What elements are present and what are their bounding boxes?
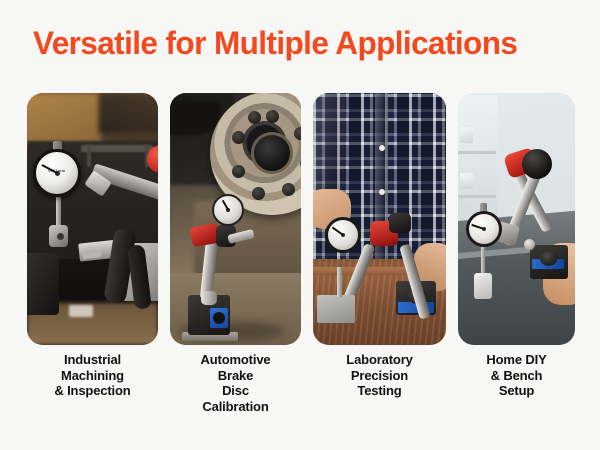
hub-bolt-hole [232,165,245,178]
photo-home-diy-bench-setup [458,93,575,345]
floor-part [69,305,93,317]
shelf-jar [460,127,473,143]
hub-bolt-hole [232,131,245,144]
black-knob-icon [389,213,411,233]
photo-industrial-machining: 0.01mm [27,93,158,345]
background-wall [27,93,101,145]
dial-indicator-gauge: 0.01mm [33,149,81,197]
magnetic-switch-knob [540,251,557,266]
gauge-center-pivot [226,208,230,212]
black-knob-icon [522,149,552,179]
hub-bolt-hole [266,110,279,123]
hub-bolt-hole [294,127,301,140]
grey-gauge-block [317,295,355,323]
stand-joint [201,291,217,305]
background-wall-dark [99,93,158,133]
shelf-jar [460,173,473,189]
caption-laboratory-testing: Laboratory Precision Testing [313,352,446,414]
shelf-divider [458,195,496,198]
magnetic-switch-knob [213,312,225,324]
image-gallery: 0.01mm [27,93,573,345]
gallery-card-home-diy[interactable] [458,93,575,345]
dial-indicator-gauge [212,194,244,226]
caption-industrial-machining: Industrial Machining & Inspection [27,352,158,414]
caption-row: Industrial Machining & Inspection Automo… [27,352,573,414]
wheel-hub [251,132,293,174]
shirt-button [379,145,385,151]
gauge-center-pivot [55,171,60,176]
shirt-button [379,189,385,195]
gallery-card-brake-disc[interactable] [170,93,301,345]
gauge-clamp-screw [57,233,64,240]
gallery-card-industrial-machining[interactable]: 0.01mm [27,93,158,345]
gauge-center-pivot [482,227,486,231]
hub-bolt-hole [282,183,295,196]
photo-laboratory-precision-testing [313,93,446,345]
caption-home-diy: Home DIY & Bench Setup [458,352,575,414]
hub-bolt-hole [248,111,261,124]
machine-rail-post-left [87,145,91,167]
photo-brake-disc-calibration [170,93,301,345]
stand-ball-stud [524,239,535,250]
gallery-card-laboratory-testing[interactable] [313,93,446,345]
caption-brake-disc: Automotive Brake Disc Calibration [170,352,301,414]
gauge-stem [337,267,342,297]
machine-rail [81,145,153,152]
gauge-center-pivot [341,233,345,237]
background-cabinet [458,95,498,223]
dial-indicator-gauge [325,217,361,253]
page-title: Versatile for Multiple Applications [33,24,565,62]
dial-indicator-gauge [466,211,502,247]
shelf-divider [458,151,496,154]
hub-bolt-hole [252,187,265,200]
machine-vise [27,253,59,315]
calibration-weight [474,273,492,299]
